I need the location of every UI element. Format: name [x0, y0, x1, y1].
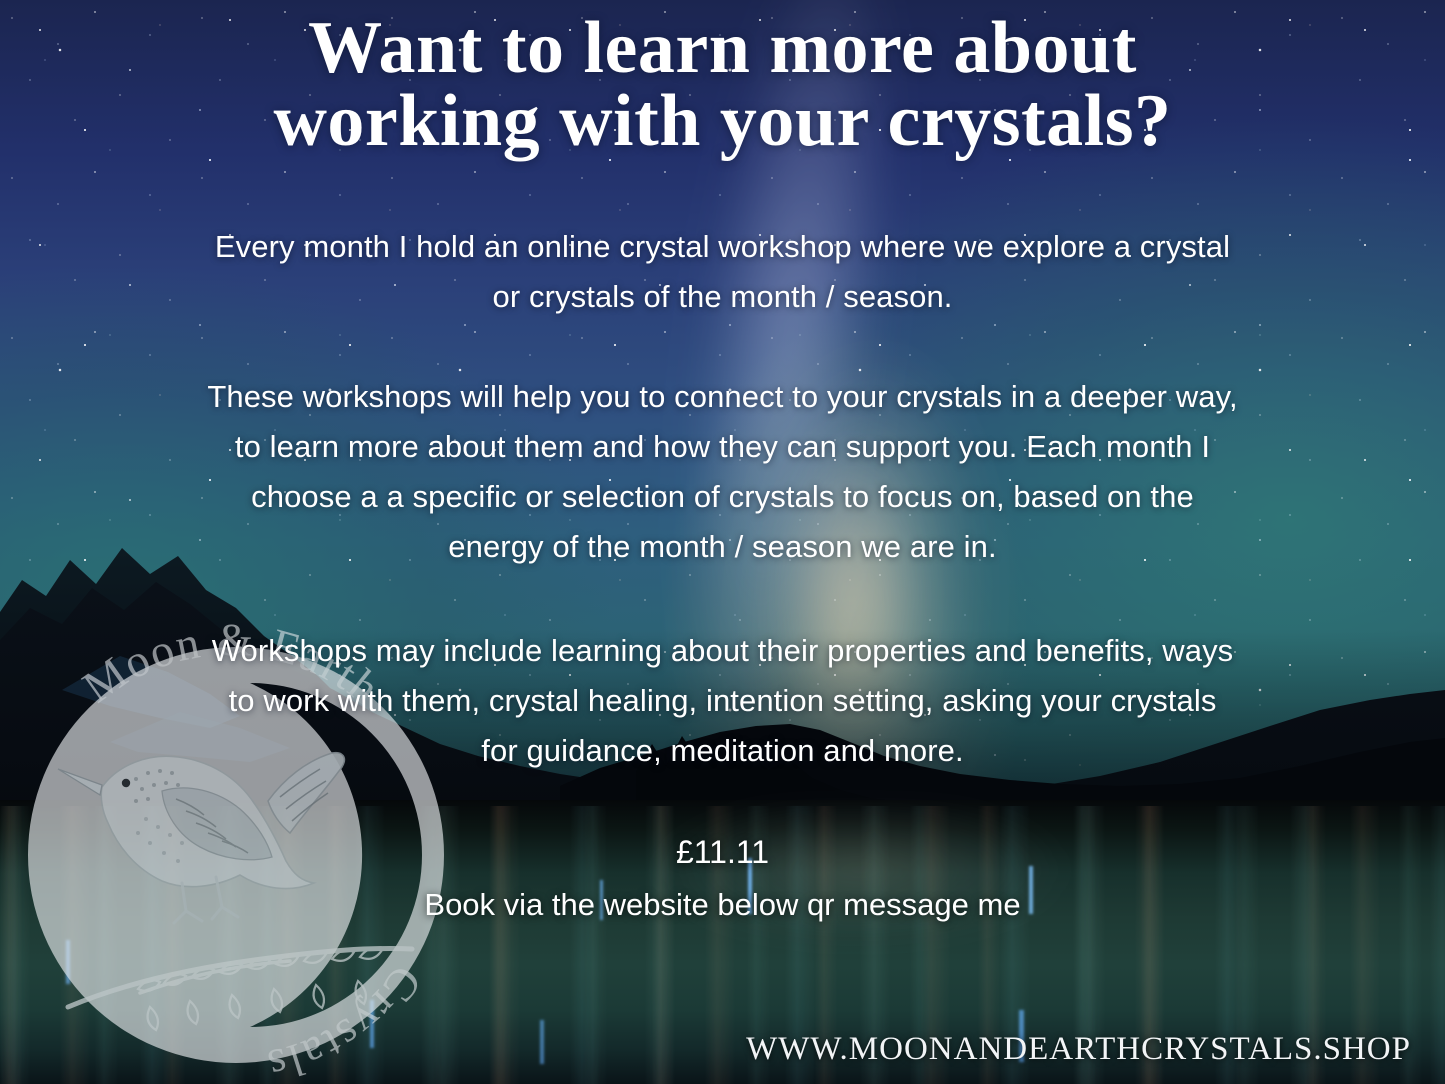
paragraph-intro: Every month I hold an online crystal wor… — [0, 222, 1445, 322]
booking-instruction: Book via the website below qr message me — [0, 884, 1445, 926]
paragraph-details-line-4: energy of the month / season we are in. — [448, 529, 996, 564]
paragraph-details-line-2: to learn more about them and how they ca… — [235, 429, 1210, 464]
paragraph-intro-line-2: or crystals of the month / season. — [493, 279, 953, 314]
paragraph-details-line-1: These workshops will help you to connect… — [207, 379, 1237, 414]
paragraph-intro-line-1: Every month I hold an online crystal wor… — [215, 229, 1230, 264]
paragraph-details: These workshops will help you to connect… — [0, 372, 1445, 572]
paragraph-includes-line-3: for guidance, meditation and more. — [481, 733, 963, 768]
page-title: Want to learn more about working with yo… — [0, 12, 1445, 157]
poster-canvas: Moon & Earth Crystals — [0, 0, 1445, 1084]
headline-line-1: Want to learn more about — [308, 7, 1137, 89]
headline-line-2: working with your crystals? — [0, 85, 1445, 158]
price-label: £11.11 — [0, 832, 1445, 872]
poster-text-content: Want to learn more about working with yo… — [0, 0, 1445, 1084]
paragraph-details-line-3: choose a a specific or selection of crys… — [251, 479, 1194, 514]
paragraph-includes-line-1: Workshops may include learning about the… — [212, 633, 1234, 668]
paragraph-includes: Workshops may include learning about the… — [0, 626, 1445, 776]
paragraph-includes-line-2: to work with them, crystal healing, inte… — [229, 683, 1217, 718]
website-url[interactable]: WWW.MOONANDEARTHCRYSTALS.SHOP — [746, 1031, 1411, 1068]
